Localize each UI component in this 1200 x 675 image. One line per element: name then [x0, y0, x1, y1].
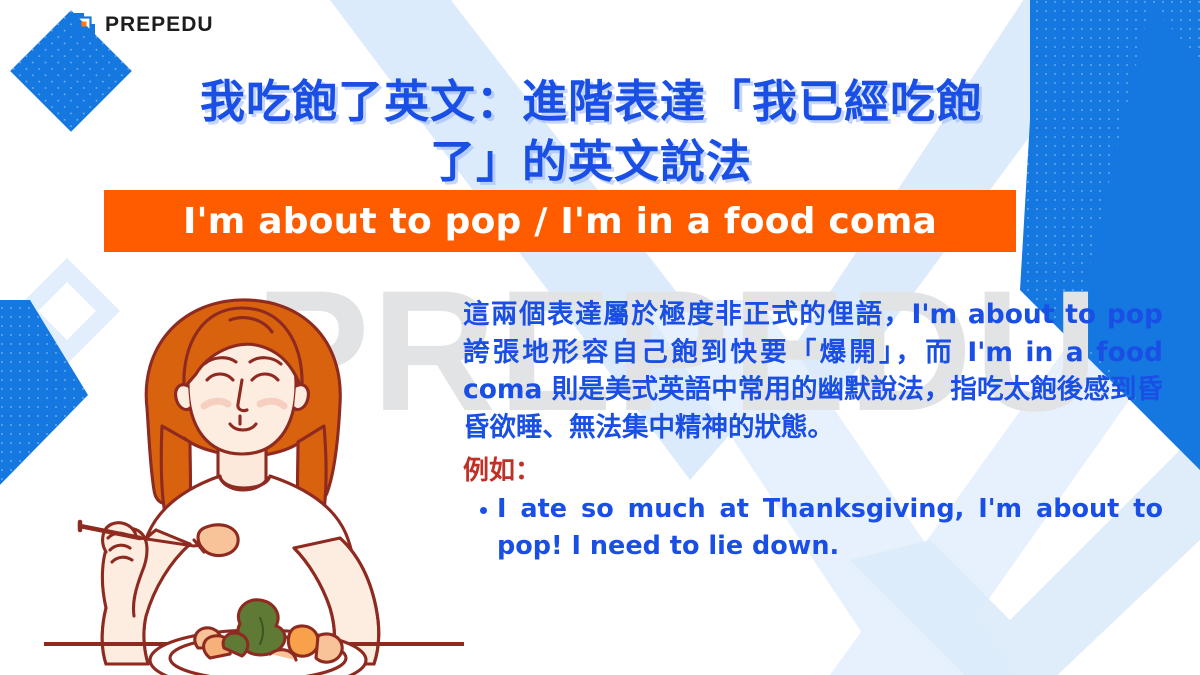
brand-logo[interactable]: PREPEDU	[70, 10, 214, 38]
bracket-square-icon	[70, 10, 98, 38]
example-label: 例如：	[463, 453, 1163, 489]
list-item: I ate so much at Thanksgiving, I'm about…	[497, 491, 1163, 565]
banner-text: I'm about to pop / I'm in a food coma	[183, 201, 937, 242]
highlight-banner: I'm about to pop / I'm in a food coma	[104, 190, 1016, 252]
content-column: 這兩個表達屬於極度非正式的俚語，I'm about to pop 誇張地形容自己…	[463, 296, 1163, 565]
poster-canvas: PREPEDU PREPEDU 我吃飽了英文：進階表達「我已經吃飽了」的英文說法…	[0, 0, 1200, 675]
page-title: 我吃飽了英文：進階表達「我已經吃飽了」的英文說法	[176, 72, 1006, 191]
body-paragraph: 這兩個表達屬於極度非正式的俚語，I'm about to pop 誇張地形容自己…	[463, 296, 1163, 447]
woman-eating-illustration	[44, 276, 464, 675]
example-list: I ate so much at Thanksgiving, I'm about…	[463, 491, 1163, 565]
logo-wordmark: PREPEDU	[105, 14, 214, 35]
